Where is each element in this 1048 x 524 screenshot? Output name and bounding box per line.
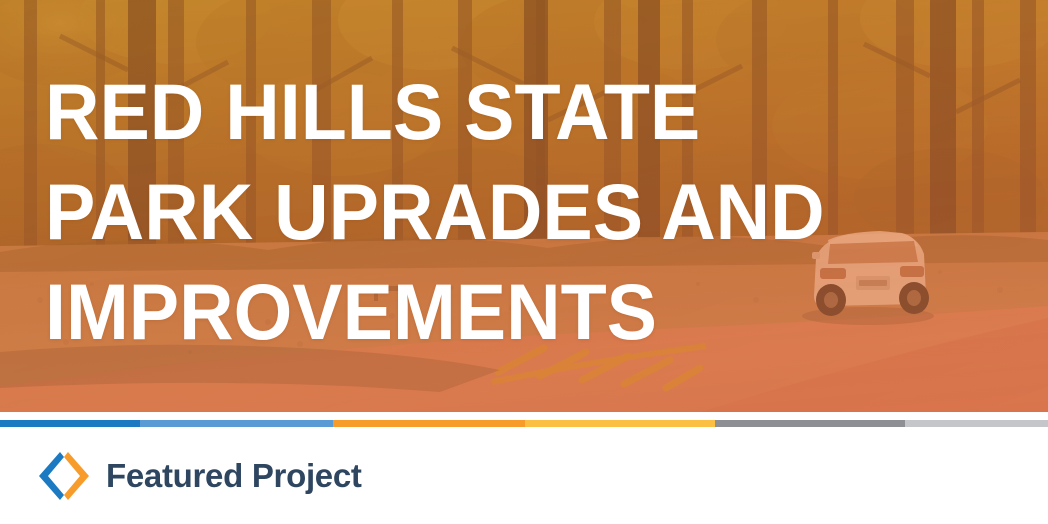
featured-project-banner: RED HILLS STATE PARK UPRADES AND IMPROVE…: [0, 0, 1048, 524]
title-line-2: PARK UPRADES AND: [45, 162, 905, 262]
hero-image-area: RED HILLS STATE PARK UPRADES AND IMPROVE…: [0, 0, 1048, 412]
colorbar-segment-orange: [333, 420, 525, 427]
title-line-1: RED HILLS STATE: [45, 62, 905, 162]
page-title: RED HILLS STATE PARK UPRADES AND IMPROVE…: [45, 62, 945, 362]
colorbar-segment-light-orange: [525, 420, 715, 427]
chevron-pair-logo: [36, 448, 92, 504]
brand-lockup[interactable]: Featured Project: [36, 448, 362, 504]
colorbar-segment-gray: [715, 420, 905, 427]
title-line-3: IMPROVEMENTS: [45, 262, 905, 362]
featured-project-label: Featured Project: [106, 459, 362, 492]
colorbar-segment-light-blue: [140, 420, 333, 427]
brand-color-bar: [0, 420, 1048, 427]
footer-bar: Featured Project: [0, 427, 1048, 524]
colorbar-segment-dark-blue: [0, 420, 140, 427]
colorbar-segment-light-gray: [905, 420, 1048, 427]
